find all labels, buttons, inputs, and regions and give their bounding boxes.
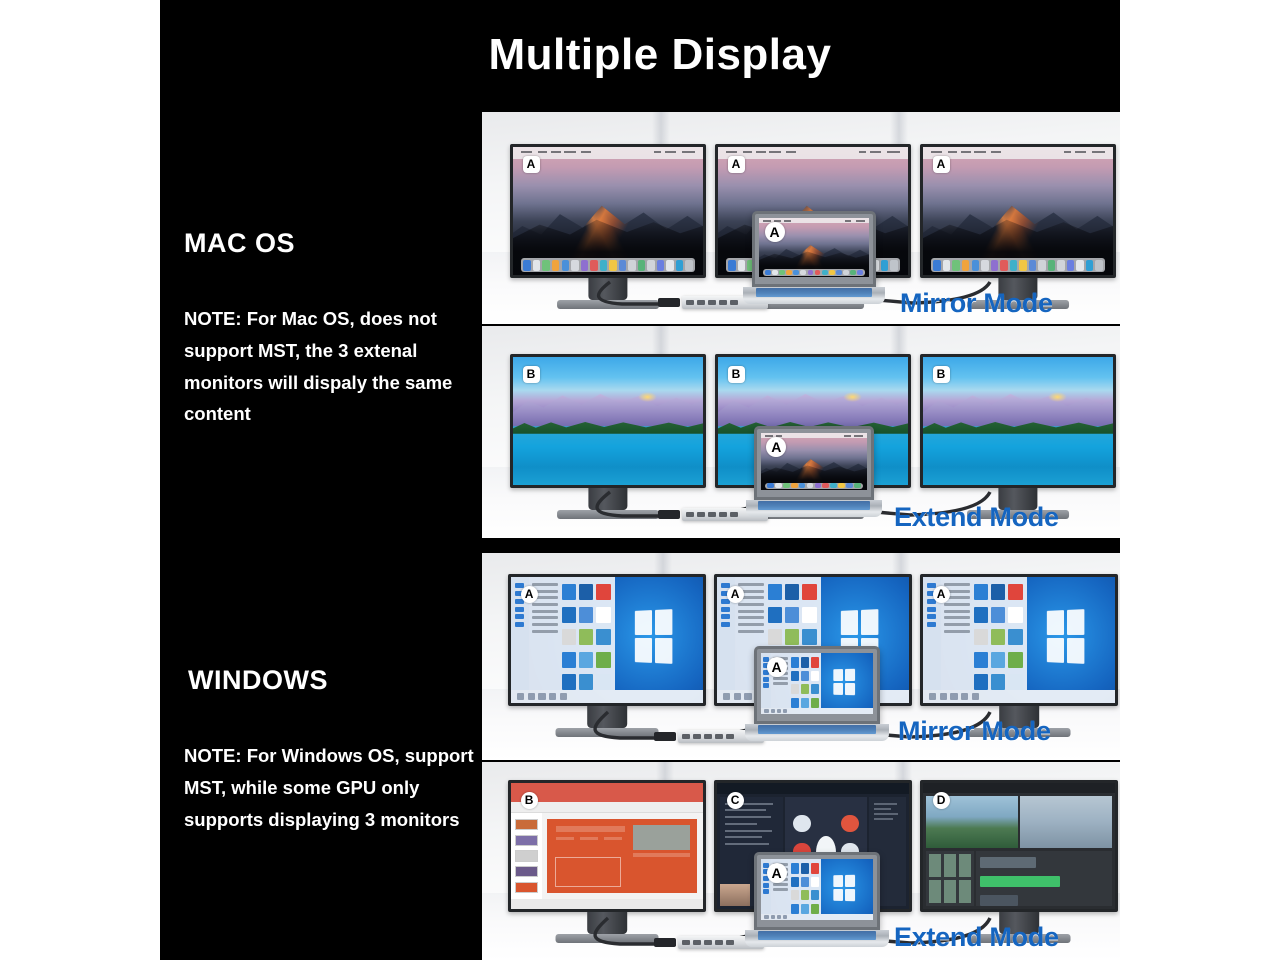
windows-mirror-mode-photo: A A xyxy=(482,552,1120,760)
monitor-label-badge: A xyxy=(523,156,540,173)
mac-os-heading: MAC OS xyxy=(160,228,485,259)
monitor-right: B xyxy=(920,354,1116,488)
laptop-device: A xyxy=(754,426,874,500)
laptop-device: A xyxy=(752,211,876,287)
monitor-label-badge: A xyxy=(933,586,950,603)
usb-c-plug xyxy=(658,298,680,307)
windows-extend-mode-photo: B xyxy=(482,762,1120,960)
monitor-label-badge: D xyxy=(933,792,950,809)
monitor-right: A xyxy=(920,144,1116,278)
laptop-label-badge: A xyxy=(765,222,785,242)
monitor-left: A xyxy=(508,574,706,706)
windows-os-info-column: WINDOWS NOTE: For Windows OS, support MS… xyxy=(160,665,485,835)
mac-os-note: NOTE: For Mac OS, does not support MST, … xyxy=(160,303,485,430)
mode-caption: Extend Mode xyxy=(894,502,1059,533)
monitor-label-badge: B xyxy=(728,366,745,383)
monitor-left: A xyxy=(510,144,706,278)
monitor-label-badge: A xyxy=(521,586,538,603)
monitor-label-badge: A xyxy=(933,156,950,173)
monitor-label-badge: A xyxy=(727,586,744,603)
mode-caption: Mirror Mode xyxy=(898,716,1051,747)
windows-os-heading: WINDOWS xyxy=(160,665,485,696)
monitor-left: B xyxy=(508,780,706,912)
laptop-device: A xyxy=(754,646,880,724)
monitor-label-badge: B xyxy=(933,366,950,383)
monitor-label-badge: B xyxy=(521,792,538,809)
monitor-left: B xyxy=(510,354,706,488)
laptop-device: A xyxy=(754,852,880,930)
poster-root: Multiple Display MAC OS NOTE: For Mac OS… xyxy=(0,0,1280,960)
usb-c-plug xyxy=(654,732,676,741)
monitor-label-badge: B xyxy=(523,366,540,383)
laptop-label-badge: A xyxy=(767,863,787,883)
mac-extend-mode-photo: B B B xyxy=(482,326,1120,540)
section-divider xyxy=(160,538,1120,553)
mode-caption: Extend Mode xyxy=(894,922,1059,953)
windows-os-note: NOTE: For Windows OS, support MST, while… xyxy=(160,740,485,835)
page-title: Multiple Display xyxy=(449,30,832,80)
mode-caption: Mirror Mode xyxy=(900,288,1053,319)
monitor-label-badge: A xyxy=(728,156,745,173)
mac-mirror-mode-photo: A xyxy=(482,112,1120,324)
usb-c-plug xyxy=(658,510,680,519)
monitor-right: A xyxy=(920,574,1118,706)
monitor-label-badge: C xyxy=(727,792,744,809)
mac-os-info-column: MAC OS NOTE: For Mac OS, does not suppor… xyxy=(160,228,485,430)
poster-header: Multiple Display xyxy=(160,0,1120,110)
monitor-right: D xyxy=(920,780,1118,912)
usb-c-plug xyxy=(654,938,676,947)
laptop-label-badge: A xyxy=(767,657,787,677)
